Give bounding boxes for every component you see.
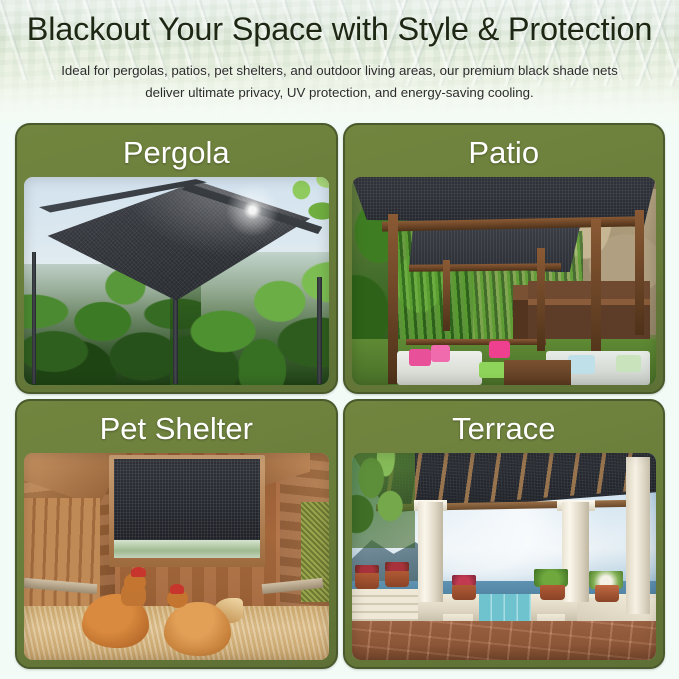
photo-vignette: [352, 453, 657, 661]
header-text-block: Blackout Your Space with Style & Protect…: [0, 0, 679, 123]
photo-pergola: [24, 177, 329, 385]
photo-vignette: [24, 177, 329, 385]
photo-vignette: [24, 453, 329, 661]
panel-pet-shelter[interactable]: Pet Shelter: [15, 399, 338, 670]
panel-title-pet-shelter: Pet Shelter: [17, 407, 336, 453]
panel-pergola[interactable]: Pergola: [15, 123, 338, 394]
product-infographic: Blackout Your Space with Style & Protect…: [0, 0, 679, 679]
panel-terrace[interactable]: Terrace: [343, 399, 666, 670]
page-subtitle: Ideal for pergolas, patios, pet shelters…: [60, 60, 619, 104]
photo-terrace: [352, 453, 657, 661]
use-case-grid: Pergola Patio: [15, 123, 665, 669]
panel-patio[interactable]: Patio: [343, 123, 666, 394]
page-title: Blackout Your Space with Style & Protect…: [0, 11, 679, 48]
panel-title-terrace: Terrace: [345, 407, 664, 453]
photo-pet-shelter: [24, 453, 329, 661]
photo-patio: [352, 177, 657, 385]
photo-vignette: [352, 177, 657, 385]
panel-title-patio: Patio: [345, 131, 664, 177]
header-banner: Blackout Your Space with Style & Protect…: [0, 0, 679, 123]
panel-title-pergola: Pergola: [17, 131, 336, 177]
